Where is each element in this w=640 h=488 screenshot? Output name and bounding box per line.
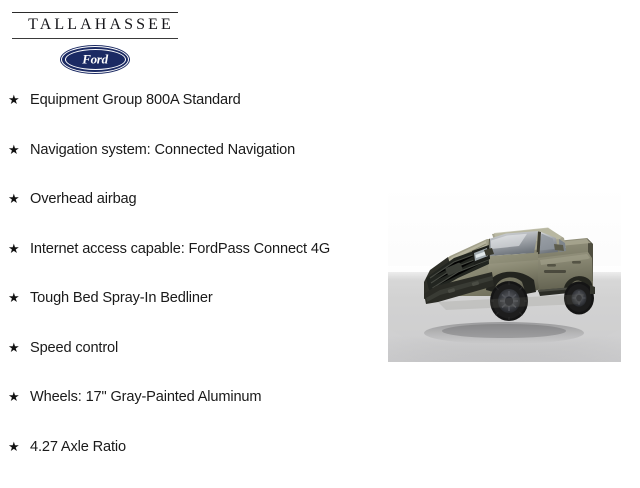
- list-item: ★ Wheels: 17" Gray-Painted Aluminum: [0, 389, 380, 439]
- star-bullet-icon: ★: [8, 341, 30, 354]
- star-bullet-icon: ★: [8, 192, 30, 205]
- feature-label: Navigation system: Connected Navigation: [30, 142, 295, 160]
- dealer-name: TALLAHASSEE: [0, 13, 190, 38]
- feature-label: Equipment Group 800A Standard: [30, 92, 241, 110]
- feature-label: Wheels: 17" Gray-Painted Aluminum: [30, 389, 261, 407]
- list-item: ★ Overhead airbag: [0, 191, 380, 241]
- ford-logo-text: Ford: [82, 53, 108, 66]
- star-bullet-icon: ★: [8, 390, 30, 403]
- star-bullet-icon: ★: [8, 440, 30, 453]
- brand-logo-container: Ford: [0, 46, 190, 73]
- list-item: ★ Equipment Group 800A Standard: [0, 92, 380, 142]
- list-item: ★ Navigation system: Connected Navigatio…: [0, 142, 380, 192]
- list-item: ★ 4.27 Axle Ratio: [0, 439, 380, 488]
- star-bullet-icon: ★: [8, 291, 30, 304]
- star-bullet-icon: ★: [8, 143, 30, 156]
- feature-label: Speed control: [30, 340, 118, 358]
- list-item: ★ Speed control: [0, 340, 380, 390]
- vehicle-feature-list: ★ Equipment Group 800A Standard ★ Naviga…: [0, 92, 380, 488]
- star-bullet-icon: ★: [8, 93, 30, 106]
- ford-oval-icon: Ford: [61, 46, 129, 73]
- feature-label: Overhead airbag: [30, 191, 136, 209]
- list-item: ★ Internet access capable: FordPass Conn…: [0, 241, 380, 291]
- dealer-branding-header: TALLAHASSEE Ford: [0, 0, 190, 73]
- feature-label: Internet access capable: FordPass Connec…: [30, 241, 330, 259]
- star-bullet-icon: ★: [8, 242, 30, 255]
- list-item: ★ Tough Bed Spray-In Bedliner: [0, 290, 380, 340]
- vehicle-photo: [388, 186, 621, 362]
- header-rule-bottom: [12, 38, 178, 39]
- feature-label: Tough Bed Spray-In Bedliner: [30, 290, 213, 308]
- feature-label: 4.27 Axle Ratio: [30, 439, 126, 457]
- truck-illustration: [388, 186, 621, 362]
